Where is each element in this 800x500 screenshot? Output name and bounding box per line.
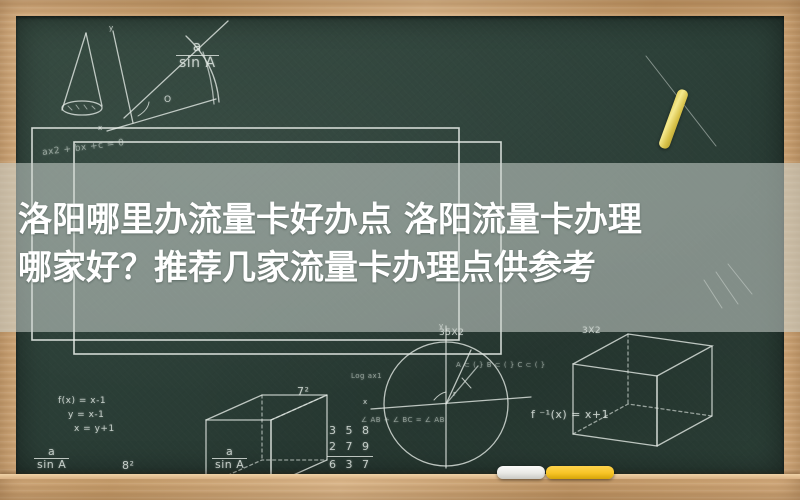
axis-label-x-bottom: x	[363, 398, 368, 406]
page-title: 洛阳哪里办流量卡好办点 洛阳流量卡办理 哪家好？推荐几家流量卡办理点供参考	[18, 196, 788, 292]
function-line-3: x = y+1	[74, 424, 115, 434]
page-title-line-2: 哪家好？推荐几家流量卡办理点供参考	[18, 244, 788, 292]
angle-label-o: O	[164, 95, 172, 105]
law-of-sines-left: a sin A	[34, 446, 69, 471]
yellow-chalk-stick[interactable]	[546, 466, 614, 479]
chalk-tray-lip	[0, 474, 800, 479]
white-chalk-stick[interactable]	[497, 466, 545, 479]
sum-row-1: 3 5 8	[329, 424, 372, 437]
sum-row-2: 2 7 9	[329, 440, 372, 453]
blackboard-banner: a sin A ax2 + bx +c = 0 O y x f(x) = x-1…	[0, 0, 800, 500]
law-of-sines-top: a sin A	[176, 40, 219, 71]
log-ax-note: Log ax1	[351, 372, 382, 380]
seven-squared: 7²	[297, 385, 309, 398]
sum-row-3: 6 3 7	[329, 458, 372, 471]
axis-label-x-top: x	[98, 124, 103, 132]
inverse-function: f ⁻¹(x) = x+1	[531, 408, 609, 421]
sum-divider-line	[327, 456, 373, 457]
radius-label-r: r	[453, 390, 456, 398]
law-of-sines-center: a sin A	[212, 446, 247, 471]
function-line-2: y = x-1	[68, 410, 104, 420]
page-title-line-1: 洛阳哪里办流量卡好办点 洛阳流量卡办理	[18, 196, 788, 244]
axis-label-y-top: y	[109, 24, 114, 32]
function-line-1: f(x) = x-1	[58, 396, 106, 406]
eight-squared: 8²	[122, 459, 134, 472]
set-notation: A ⊂ ( } B ⊂ ( } C ⊂ ( }	[456, 361, 546, 369]
triangle-rule: ∠ AB + ∠ BC = ∠ AB	[361, 416, 445, 424]
